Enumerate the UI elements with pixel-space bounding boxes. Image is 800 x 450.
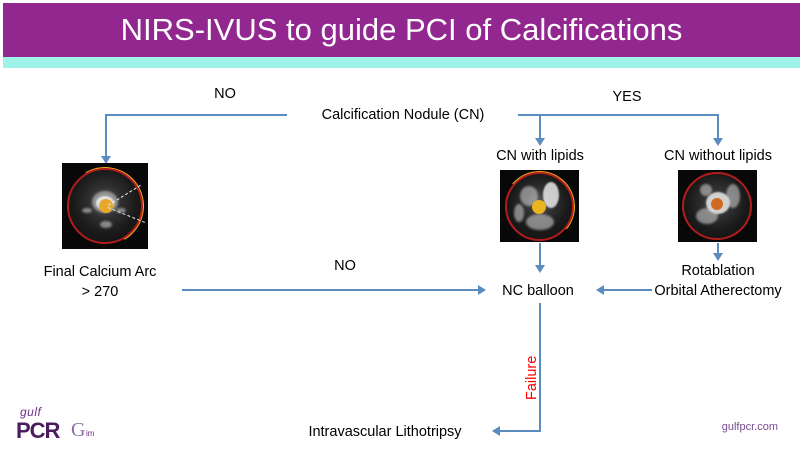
- logo-gulf-text: gulf: [20, 405, 41, 419]
- label-failure: Failure: [524, 356, 540, 400]
- connector-failure-horizontal: [500, 430, 541, 432]
- branch-label-no-arc: NO: [334, 258, 356, 274]
- site-url-text: gulfpcr.com: [722, 421, 778, 433]
- node-intravascular-lithotripsy: Intravascular Lithotripsy: [308, 423, 461, 441]
- node-rotablation-line1: Rotablation: [681, 262, 754, 280]
- connector-arc-to-balloon-arrowhead: [478, 285, 486, 295]
- node-final-calcium-arc-line2: > 270: [82, 283, 119, 301]
- branch-label-yes: YES: [612, 89, 641, 105]
- branch-label-no-top: NO: [214, 86, 236, 102]
- page-title: NIRS-IVUS to guide PCI of Calcifications: [3, 3, 800, 57]
- node-nc-balloon: NC balloon: [502, 282, 574, 300]
- connector-yes-left-arrowhead: [535, 138, 545, 146]
- ivus-calcium-arc-image: [62, 163, 148, 249]
- connector-lipids-to-balloon: [539, 243, 541, 267]
- ivus-cn-with-lipids-image: [500, 170, 579, 242]
- ivus-cn-without-lipids-image: [678, 170, 757, 242]
- node-calcification-nodule: Calcification Nodule (CN): [322, 106, 485, 124]
- connector-rotablation-to-balloon-arrowhead: [596, 285, 604, 295]
- title-accent-strip: [3, 57, 800, 68]
- connector-yes-drop-left: [539, 114, 541, 140]
- logo-pcr-text: PCR: [16, 418, 59, 444]
- slide-canvas: NIRS-IVUS to guide PCI of Calcifications…: [0, 0, 800, 450]
- logo-g-mark-icon: G: [71, 419, 85, 442]
- logo-im-text: im: [86, 429, 94, 438]
- title-banner: NIRS-IVUS to guide PCI of Calcifications: [3, 3, 800, 57]
- connector-yes-drop-right: [717, 114, 719, 140]
- connector-nolipids-to-rotablation-arrowhead: [713, 253, 723, 261]
- node-final-calcium-arc-line1: Final Calcium Arc: [44, 263, 157, 281]
- connector-lipids-to-balloon-arrowhead: [535, 265, 545, 273]
- connector-yes-right-arrowhead: [713, 138, 723, 146]
- connector-yes-horizontal: [518, 114, 718, 116]
- connector-failure-arrowhead: [492, 426, 500, 436]
- connector-arc-to-balloon: [182, 289, 478, 291]
- connector-rotablation-to-balloon: [604, 289, 652, 291]
- node-rotablation-line2: Orbital Atherectomy: [654, 282, 781, 300]
- node-cn-with-lipids: CN with lipids: [496, 147, 584, 165]
- gulf-pcr-logo: gulf PCR G im: [14, 405, 109, 445]
- connector-no-horizontal: [105, 114, 287, 116]
- connector-no-vertical: [105, 114, 107, 158]
- node-cn-without-lipids: CN without lipids: [664, 147, 772, 165]
